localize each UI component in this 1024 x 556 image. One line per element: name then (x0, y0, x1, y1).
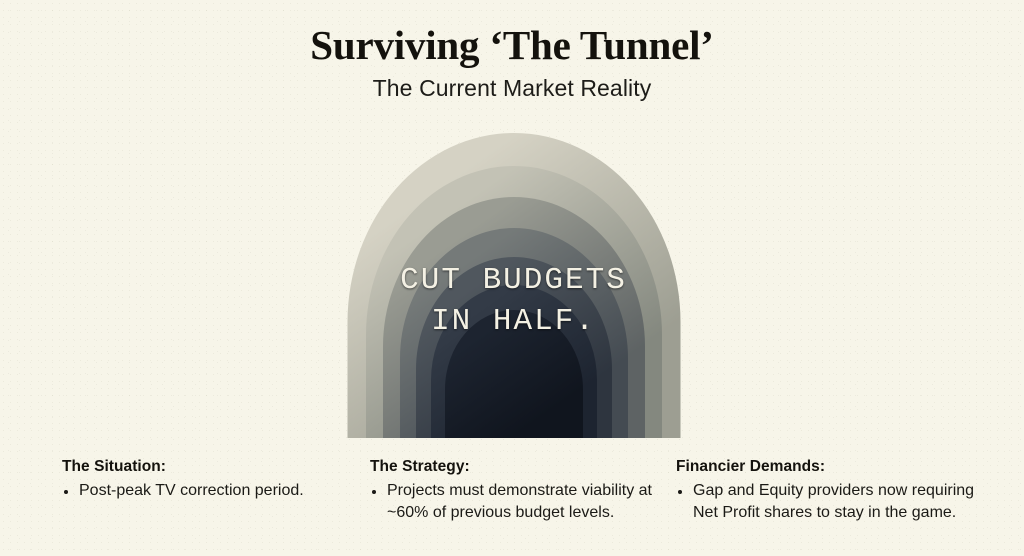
list-item: Projects must demonstrate viability at ~… (370, 480, 670, 524)
list-item-label: Projects must demonstrate viability at ~… (387, 482, 652, 521)
bullet-dot-icon (372, 490, 376, 494)
page-title: Surviving ‘The Tunnel’ (0, 22, 1024, 69)
bullet-dot-icon (678, 490, 682, 494)
header: Surviving ‘The Tunnel’ The Current Marke… (0, 0, 1024, 102)
summary-column-1: The Situation:Post-peak TV correction pe… (62, 458, 362, 502)
column-bullet-list: Projects must demonstrate viability at ~… (370, 480, 670, 524)
tunnel-headline-text: CUT BUDGETS IN HALF. (347, 261, 680, 343)
summary-column-3: Financier Demands:Gap and Equity provide… (676, 458, 986, 524)
column-heading: The Strategy: (370, 458, 670, 476)
list-item-label: Gap and Equity providers now requiring N… (693, 482, 974, 521)
tunnel-graphic: CUT BUDGETS IN HALF. (347, 133, 680, 438)
column-bullet-list: Post-peak TV correction period. (62, 480, 362, 502)
column-bullet-list: Gap and Equity providers now requiring N… (676, 480, 986, 524)
list-item: Gap and Equity providers now requiring N… (676, 480, 986, 524)
summary-columns: The Situation:Post-peak TV correction pe… (0, 458, 1024, 524)
column-heading: The Situation: (62, 458, 362, 476)
summary-column-2: The Strategy:Projects must demonstrate v… (370, 458, 670, 524)
bullet-dot-icon (64, 490, 68, 494)
list-item-label: Post-peak TV correction period. (79, 482, 304, 499)
column-heading: Financier Demands: (676, 458, 986, 476)
page-subtitle: The Current Market Reality (0, 75, 1024, 102)
list-item: Post-peak TV correction period. (62, 480, 362, 502)
